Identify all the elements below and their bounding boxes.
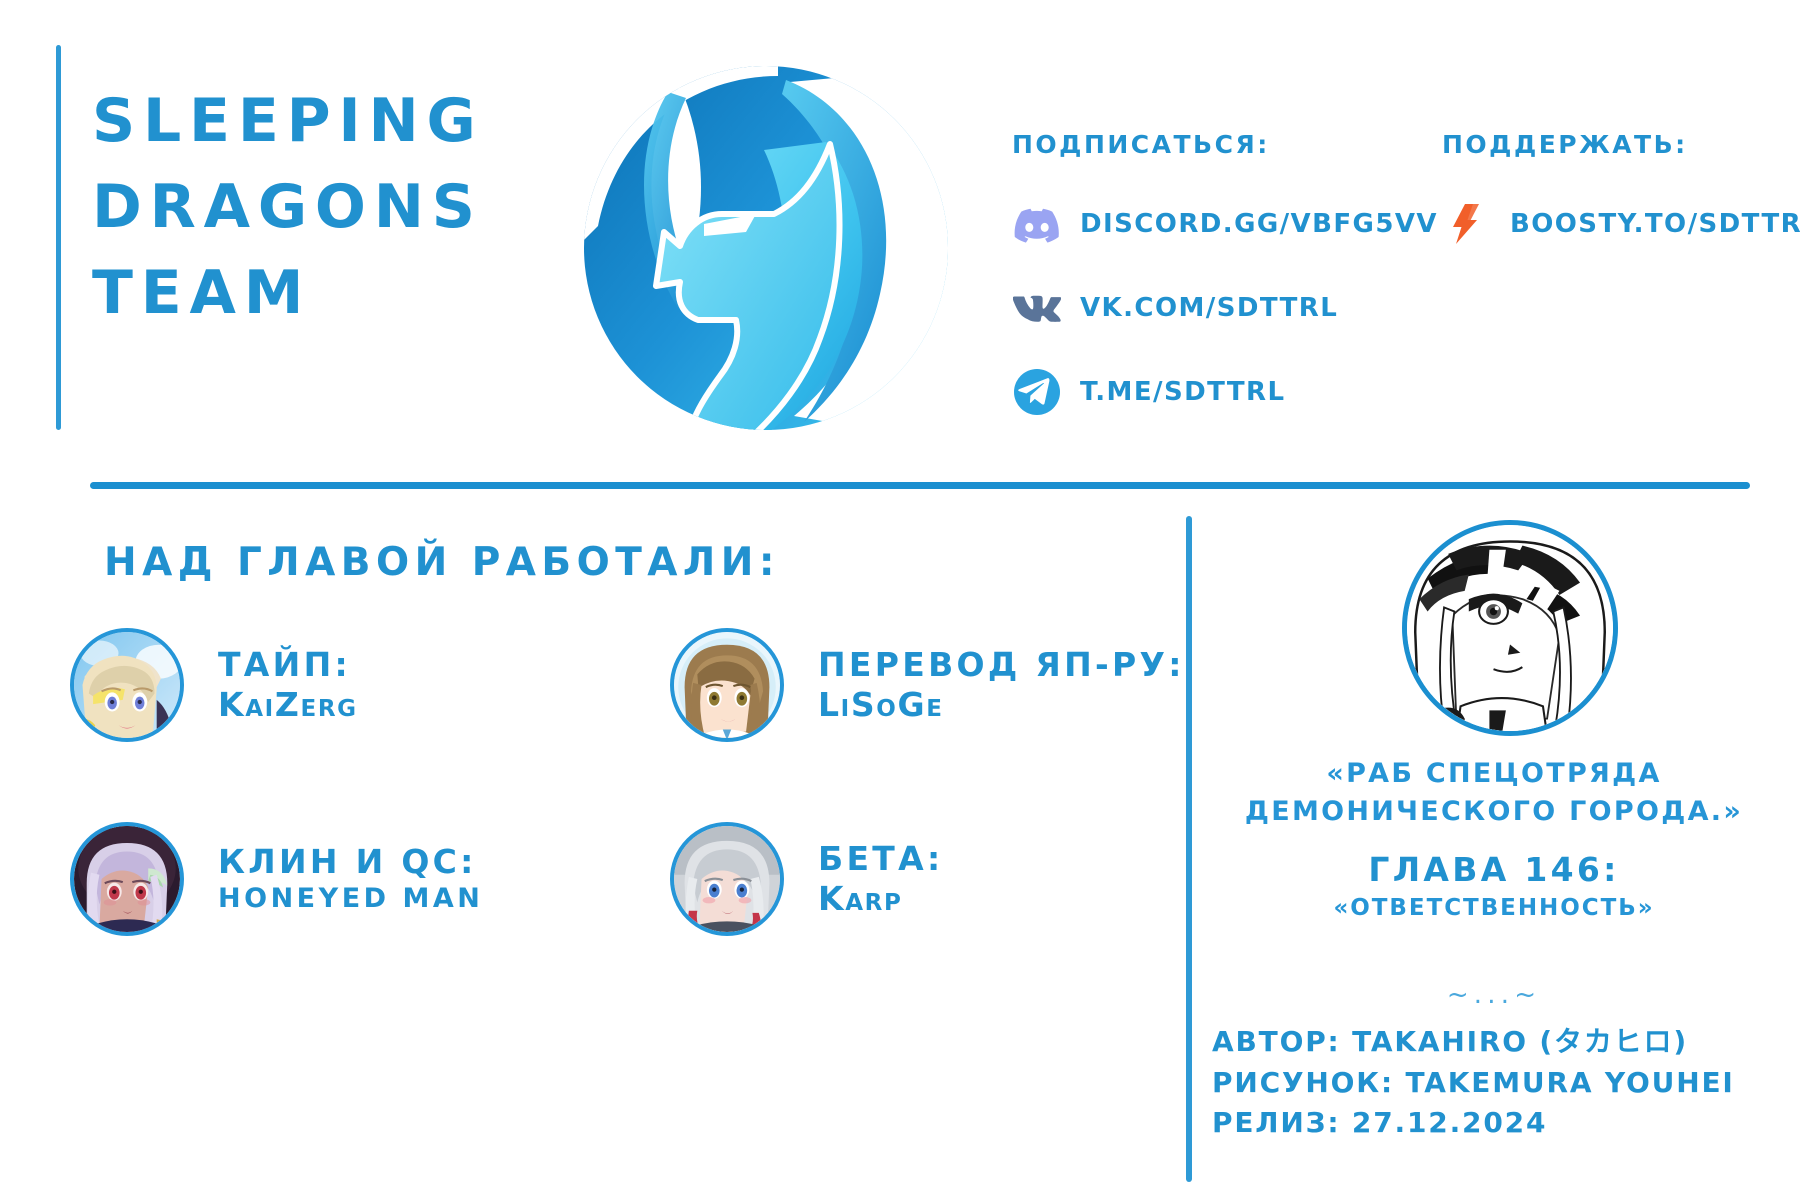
header-accent-bar: [56, 45, 61, 430]
author-block: АВТОР: TAKAHIRO (タカヒロ) РИСУНОК: TAKEMURA…: [1212, 1022, 1796, 1144]
release-line: РЕЛИЗ: 27.12.2024: [1212, 1103, 1796, 1144]
chapter-title: «ОТВЕТСТВЕННОСТЬ»: [1192, 895, 1796, 921]
social-link-boosty[interactable]: BOOSTY.TO/SDTTRL: [1442, 193, 1800, 255]
credit-nick-translate: LiSoGe: [818, 685, 1185, 725]
series-title-line-1: «РАБ СПЕЦОТРЯДА: [1192, 755, 1796, 793]
support-heading: ПОДДЕРЖАТЬ:: [1442, 130, 1800, 159]
discord-icon: [1012, 199, 1062, 249]
avatar-karp: [670, 822, 784, 936]
team-name: SLEEPING DRAGONS TEAM: [92, 78, 542, 336]
credit-role-clean: КЛИН И QC:: [218, 842, 483, 882]
team-name-line-3: TEAM: [92, 250, 542, 336]
credit-role-type: ТАЙП:: [218, 645, 358, 685]
vk-link-label: VK.COM/SDTTRL: [1080, 293, 1338, 323]
credit-nick-type: KaiZerg: [218, 685, 358, 725]
credit-nick-clean: HONEYED MAN: [218, 883, 483, 916]
credit-entry-clean: КЛИН И QC: HONEYED MAN: [70, 822, 483, 936]
subscribe-column: ПОДПИСАТЬСЯ: DISCORD.GG/VBFG5VV VK.COM/S…: [1012, 130, 1438, 445]
series-title: «РАБ СПЕЦОТРЯДА ДЕМОНИЧЕСКОГО ГОРОДА.»: [1192, 755, 1796, 832]
credit-role-beta: БЕТА:: [818, 839, 943, 879]
social-link-vk[interactable]: VK.COM/SDTTRL: [1012, 277, 1438, 339]
credit-entry-beta: БЕТА: Karp: [670, 822, 943, 936]
author-line: АВТОР: TAKAHIRO (タカヒロ): [1212, 1022, 1796, 1063]
boosty-link-label: BOOSTY.TO/SDTTRL: [1510, 209, 1800, 239]
boosty-icon: [1442, 199, 1492, 249]
dragon-logo-icon: [568, 46, 968, 446]
team-name-line-2: DRAGONS: [92, 164, 542, 250]
subscribe-heading: ПОДПИСАТЬСЯ:: [1012, 130, 1438, 159]
telegram-icon: [1012, 367, 1062, 417]
avatar-honeyedman: [70, 822, 184, 936]
credit-text-translate: ПЕРЕВОД ЯП-РУ: LiSoGe: [818, 645, 1185, 726]
horizontal-divider: [90, 482, 1750, 489]
artist-line: РИСУНОК: TAKEMURA YOUHEI: [1212, 1063, 1796, 1104]
series-title-line-2: ДЕМОНИЧЕСКОГО ГОРОДА.»: [1192, 793, 1796, 831]
credit-entry-translate: ПЕРЕВОД ЯП-РУ: LiSoGe: [670, 628, 1185, 742]
credit-text-clean: КЛИН И QC: HONEYED MAN: [218, 842, 483, 915]
avatar-kaizerg: [70, 628, 184, 742]
credits-heading: НАД ГЛАВОЙ РАБОТАЛИ:: [104, 540, 780, 585]
credit-entry-type: ТАЙП: KaiZerg: [70, 628, 358, 742]
credit-text-type: ТАЙП: KaiZerg: [218, 645, 358, 726]
support-column: ПОДДЕРЖАТЬ: BOOSTY.TO/SDTTRL: [1442, 130, 1800, 277]
credit-role-translate: ПЕРЕВОД ЯП-РУ:: [818, 645, 1185, 685]
social-link-discord[interactable]: DISCORD.GG/VBFG5VV: [1012, 193, 1438, 255]
ornament-divider: ~...~: [1192, 980, 1796, 1010]
credit-nick-beta: Karp: [818, 879, 943, 919]
credit-text-beta: БЕТА: Karp: [818, 839, 943, 920]
telegram-link-label: T.ME/SDTTRL: [1080, 377, 1286, 407]
chapter-cover-art: [1402, 520, 1618, 736]
avatar-lisoge: [670, 628, 784, 742]
team-name-line-1: SLEEPING: [92, 78, 542, 164]
chapter-info: «РАБ СПЕЦОТРЯДА ДЕМОНИЧЕСКОГО ГОРОДА.» Г…: [1192, 755, 1796, 921]
social-link-telegram[interactable]: T.ME/SDTTRL: [1012, 361, 1438, 423]
chapter-number: ГЛАВА 146:: [1192, 850, 1796, 889]
vk-icon: [1012, 283, 1062, 333]
discord-link-label: DISCORD.GG/VBFG5VV: [1080, 209, 1438, 239]
